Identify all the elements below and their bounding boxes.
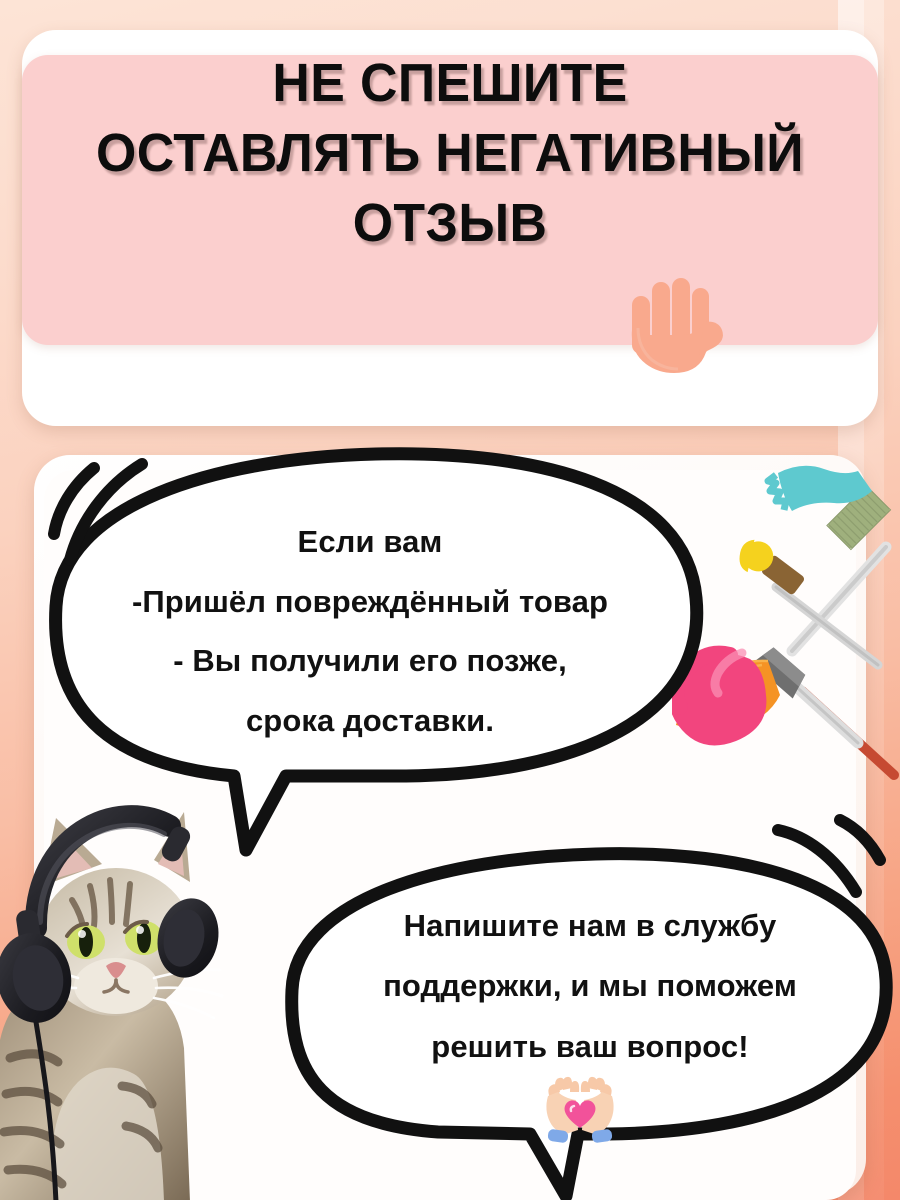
condition-bubble-text: Если вам -Пришёл повреждённый товар - Вы… (60, 512, 680, 750)
bubble-motion-lines (864, 842, 900, 884)
page-title: НЕ СПЕШИТЕ ОСТАВЛЯТЬ НЕГАТИВНЫЙ ОТЗЫВ (18, 48, 882, 259)
solution-bubble-text: Напишите нам в службу поддержки, и мы по… (300, 896, 880, 1077)
poster-root: НЕ СПЕШИТЕ ОСТАВЛЯТЬ НЕГАТИВНЫЙ ОТЗЫВ (0, 0, 900, 1200)
